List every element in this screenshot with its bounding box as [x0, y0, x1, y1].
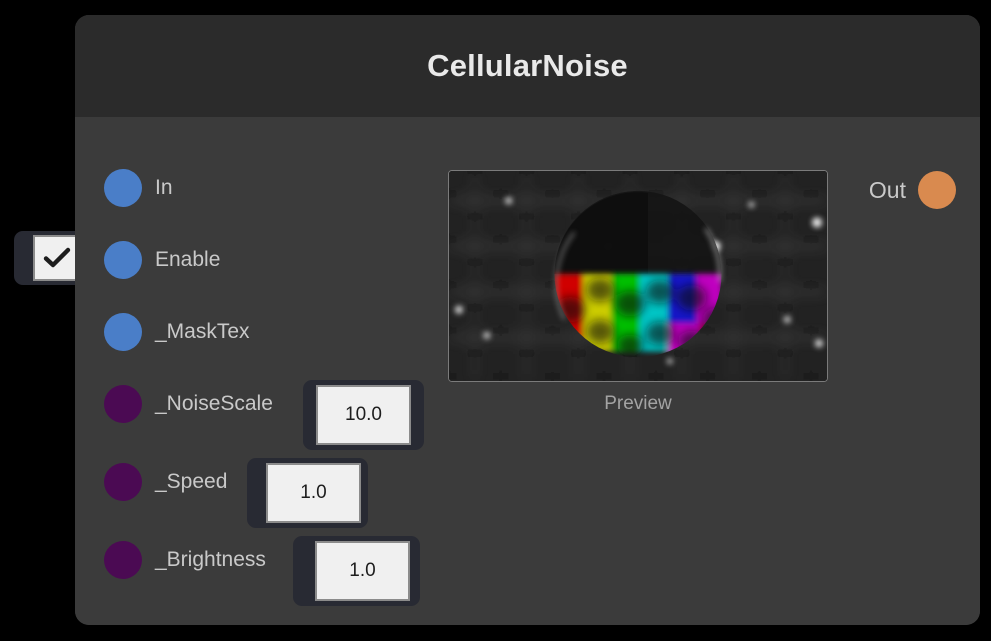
noisescale-input[interactable]: 10.0: [316, 385, 411, 445]
output-port-label: Out: [869, 177, 906, 204]
port-label-noisescale: _NoiseScale: [155, 392, 273, 416]
node-body: In Enable _MaskTex _NoiseScale _Speed _B…: [75, 117, 980, 625]
port-row-in[interactable]: In: [104, 168, 173, 208]
port-label-speed: _Speed: [155, 470, 227, 494]
brightness-field-holder[interactable]: 1.0: [293, 536, 420, 606]
enable-checkbox[interactable]: [33, 235, 80, 281]
brightness-input[interactable]: 1.0: [315, 541, 410, 601]
preview-caption: Preview: [448, 393, 828, 415]
port-row-noisescale[interactable]: _NoiseScale: [104, 384, 273, 424]
port-row-masktex[interactable]: _MaskTex: [104, 312, 250, 352]
preview-frame[interactable]: [448, 170, 828, 382]
port-dot-noisescale[interactable]: [104, 385, 142, 423]
port-dot-masktex[interactable]: [104, 313, 142, 351]
port-dot-enable[interactable]: [104, 241, 142, 279]
port-row-brightness[interactable]: _Brightness: [104, 540, 266, 580]
port-row-speed[interactable]: _Speed: [104, 462, 227, 502]
port-label-enable: Enable: [155, 248, 220, 272]
node-panel[interactable]: CellularNoise In Enable _MaskTex _NoiseS…: [75, 15, 980, 625]
port-dot-out[interactable]: [918, 171, 956, 209]
speed-field-holder[interactable]: 1.0: [247, 458, 368, 528]
check-icon: [42, 246, 72, 270]
port-dot-speed[interactable]: [104, 463, 142, 501]
preview-block: Preview: [448, 170, 828, 415]
port-dot-in[interactable]: [104, 169, 142, 207]
port-label-brightness: _Brightness: [155, 548, 266, 572]
port-row-enable[interactable]: Enable: [104, 240, 220, 280]
port-label-in: In: [155, 176, 173, 200]
output-port-row[interactable]: Out: [869, 171, 956, 209]
preview-image: [449, 171, 827, 381]
port-label-masktex: _MaskTex: [155, 320, 250, 344]
port-dot-brightness[interactable]: [104, 541, 142, 579]
speed-input[interactable]: 1.0: [266, 463, 361, 523]
noisescale-field-holder[interactable]: 10.0: [303, 380, 424, 450]
node-title: CellularNoise: [427, 48, 628, 84]
node-header: CellularNoise: [75, 15, 980, 117]
